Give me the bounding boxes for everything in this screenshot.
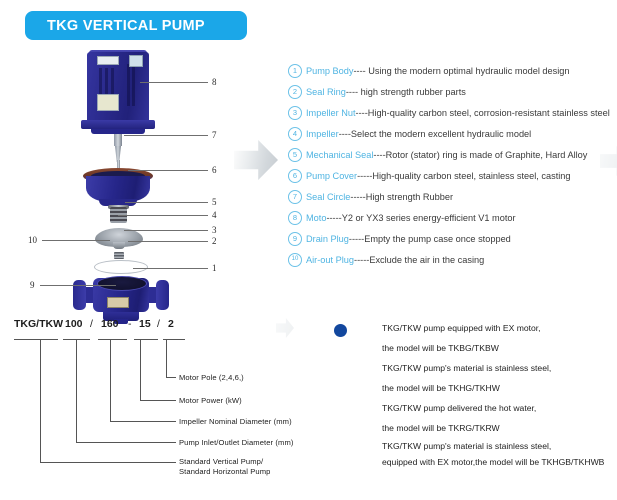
legend-part-name: Moto: [306, 213, 326, 223]
note-line: TKG/TKW pump delivered the hot water,: [382, 398, 617, 418]
model-connector-pole: [166, 377, 176, 378]
legend-number-icon: 5: [288, 148, 302, 162]
note-line: TKG/TKW pump equipped with EX motor,: [382, 318, 617, 338]
note-line: equipped with EX motor,the model will be…: [382, 454, 617, 470]
legend-number-icon: 3: [288, 106, 302, 120]
motor-fin: [127, 64, 130, 106]
legend-number-icon: 7: [288, 190, 302, 204]
legend-item-pump-cover: 6 Pump Cover -----High-quality carbon st…: [288, 165, 614, 186]
legend-item-impeller-nut: 3 Impeller Nut ----High-quality carbon s…: [288, 102, 614, 123]
model-token-impeller: 160: [101, 318, 119, 330]
title-banner: TKG VERTICAL PUMP: [25, 11, 247, 40]
pump-exploded-illustration: [55, 50, 205, 295]
model-label-pole: Motor Pole (2,4,6,): [179, 373, 244, 382]
model-label-inlet: Pump Inlet/Outlet Diameter (mm): [179, 438, 294, 447]
note-line: TKG/TKW pump's material is stainless ste…: [382, 358, 617, 378]
legend-description: -----Exclude the air in the casing: [354, 255, 484, 265]
legend-description: ---- high strength rubber parts: [346, 87, 466, 97]
model-token-inlet: 100: [65, 318, 83, 330]
impeller-hub: [113, 242, 125, 249]
model-dropline-power: [140, 339, 141, 400]
legend-number-icon: 4: [288, 127, 302, 141]
casing-nameplate: [107, 297, 129, 308]
callout-line-8: [140, 82, 208, 83]
callout-number-4: 4: [212, 210, 217, 220]
callout-number-8: 8: [212, 77, 217, 87]
legend-description: -----High-quality carbon steel, stainles…: [357, 171, 570, 181]
model-label-power: Motor Power (kW): [179, 396, 242, 405]
model-token-power: 15: [139, 318, 151, 330]
legend-description: ---- Using the modern optimal hydraulic …: [354, 66, 570, 76]
legend-part-name: Seal Circle: [306, 192, 350, 202]
legend-item-pump-body: 1 Pump Body ---- Using the modern optima…: [288, 60, 614, 81]
model-separator-3: /: [157, 318, 160, 330]
legend-number-icon: 9: [288, 232, 302, 246]
legend-part-name: Impeller: [306, 129, 339, 139]
model-separator-2: -: [128, 318, 132, 330]
callout-number-9: 9: [30, 280, 35, 290]
legend-item-moto: 8 Moto -----Y2 or YX3 series energy-effi…: [288, 207, 614, 228]
legend-part-name: Air-out Plug: [306, 255, 354, 265]
legend-description: ----Rotor (stator) ring is made of Graph…: [373, 150, 587, 160]
callout-line-2: [128, 241, 208, 242]
legend-part-name: Impeller Nut: [306, 108, 356, 118]
callout-line-5: [125, 202, 208, 203]
legend-description: ----Select the modern excellent hydrauli…: [339, 129, 532, 139]
legend-number-icon: 1: [288, 64, 302, 78]
note-line: the model will be TKHG/TKHW: [382, 378, 617, 398]
callout-line-6: [128, 170, 208, 171]
callout-line-7: [124, 135, 208, 136]
callout-number-6: 6: [212, 165, 217, 175]
callout-line-1: [133, 268, 208, 269]
motor-fin: [132, 64, 135, 106]
legend-item-drain-plug: 9 Drain Plug -----Empty the pump case on…: [288, 228, 614, 249]
legend-part-name: Mechanical Seal: [306, 150, 373, 160]
callout-number-7: 7: [212, 130, 217, 140]
legend-part-name: Seal Ring: [306, 87, 346, 97]
model-underline-power: [134, 339, 158, 340]
note-line: the model will be TKRG/TKRW: [382, 418, 617, 438]
model-code-breakdown: TKG/TKW 100 / 160 - 15 / 2 Motor Pole (2…: [0, 312, 330, 492]
legend-item-seal-circle: 7 Seal Circle -----High strength Rubber: [288, 186, 614, 207]
legend-item-air-out-plug: 10 Air-out Plug -----Exclude the air in …: [288, 249, 614, 270]
right-arrow-icon: [234, 140, 278, 180]
parts-legend: 1 Pump Body ---- Using the modern optima…: [288, 60, 614, 270]
model-connector-impeller: [110, 421, 176, 422]
callout-line-10: [42, 240, 110, 241]
outlet-flange: [156, 280, 169, 310]
legend-description: -----Y2 or YX3 series energy-efficient V…: [326, 213, 515, 223]
page-title: TKG VERTICAL PUMP: [47, 18, 205, 34]
model-token-pole: 2: [168, 318, 174, 330]
legend-number-icon: 2: [288, 85, 302, 99]
callout-number-3: 3: [212, 225, 217, 235]
model-dropline-series: [40, 339, 41, 462]
motor-nameplate: [97, 56, 119, 65]
legend-description: -----High strength Rubber: [350, 192, 453, 202]
callout-number-5: 5: [212, 197, 217, 207]
model-separator-1: /: [90, 318, 93, 330]
model-underline-series: [14, 339, 58, 340]
model-dropline-inlet: [76, 339, 77, 442]
callout-line-9: [40, 285, 116, 286]
model-label-series-1: Standard Vertical Pump/: [179, 457, 263, 466]
callout-number-1: 1: [212, 263, 217, 273]
legend-item-seal-ring: 2 Seal Ring ---- high strength rubber pa…: [288, 81, 614, 102]
note-line: the model will be TKBG/TKBW: [382, 338, 617, 358]
note-line: TKG/TKW pump's material is stainless ste…: [382, 438, 617, 454]
impeller-nut: [114, 252, 124, 259]
legend-item-impeller: 4 Impeller ----Select the modern excelle…: [288, 123, 614, 144]
model-token-series: TKG/TKW: [14, 318, 63, 330]
callout-line-3: [124, 230, 208, 231]
bullet-dot-icon: [334, 324, 347, 337]
model-connector-series: [40, 462, 176, 463]
legend-part-name: Pump Cover: [306, 171, 357, 181]
legend-item-mechanical-seal: 5 Mechanical Seal ----Rotor (stator) rin…: [288, 144, 614, 165]
model-connector-power: [140, 400, 176, 401]
legend-part-name: Drain Plug: [306, 234, 349, 244]
callout-line-4: [118, 215, 208, 216]
model-connector-inlet: [76, 442, 176, 443]
model-label-impeller: Impeller Nominal Diameter (mm): [179, 417, 292, 426]
legend-number-icon: 10: [288, 253, 302, 267]
callout-number-2: 2: [212, 236, 217, 246]
product-spec-sheet: TKG VERTICAL PUMP: [0, 0, 617, 500]
callout-number-10: 10: [28, 235, 37, 245]
casing-opening: [97, 276, 147, 291]
model-variant-notes: TKG/TKW pump equipped with EX motor, the…: [330, 318, 617, 470]
legend-number-icon: 8: [288, 211, 302, 225]
model-dropline-impeller: [110, 339, 111, 421]
motor-sticker: [129, 55, 143, 67]
seal-circle-shaft: [114, 134, 122, 146]
legend-part-name: Pump Body: [306, 66, 354, 76]
model-dropline-pole: [166, 339, 167, 377]
legend-number-icon: 6: [288, 169, 302, 183]
motor-terminal-box: [97, 94, 119, 111]
model-underline-impeller: [98, 339, 127, 340]
legend-description: ----High-quality carbon steel, corrosion…: [356, 108, 610, 118]
legend-description: -----Empty the pump case once stopped: [349, 234, 511, 244]
motor-base-flange: [81, 120, 155, 129]
model-label-series-2: Standard Horizontal Pump: [179, 467, 270, 476]
